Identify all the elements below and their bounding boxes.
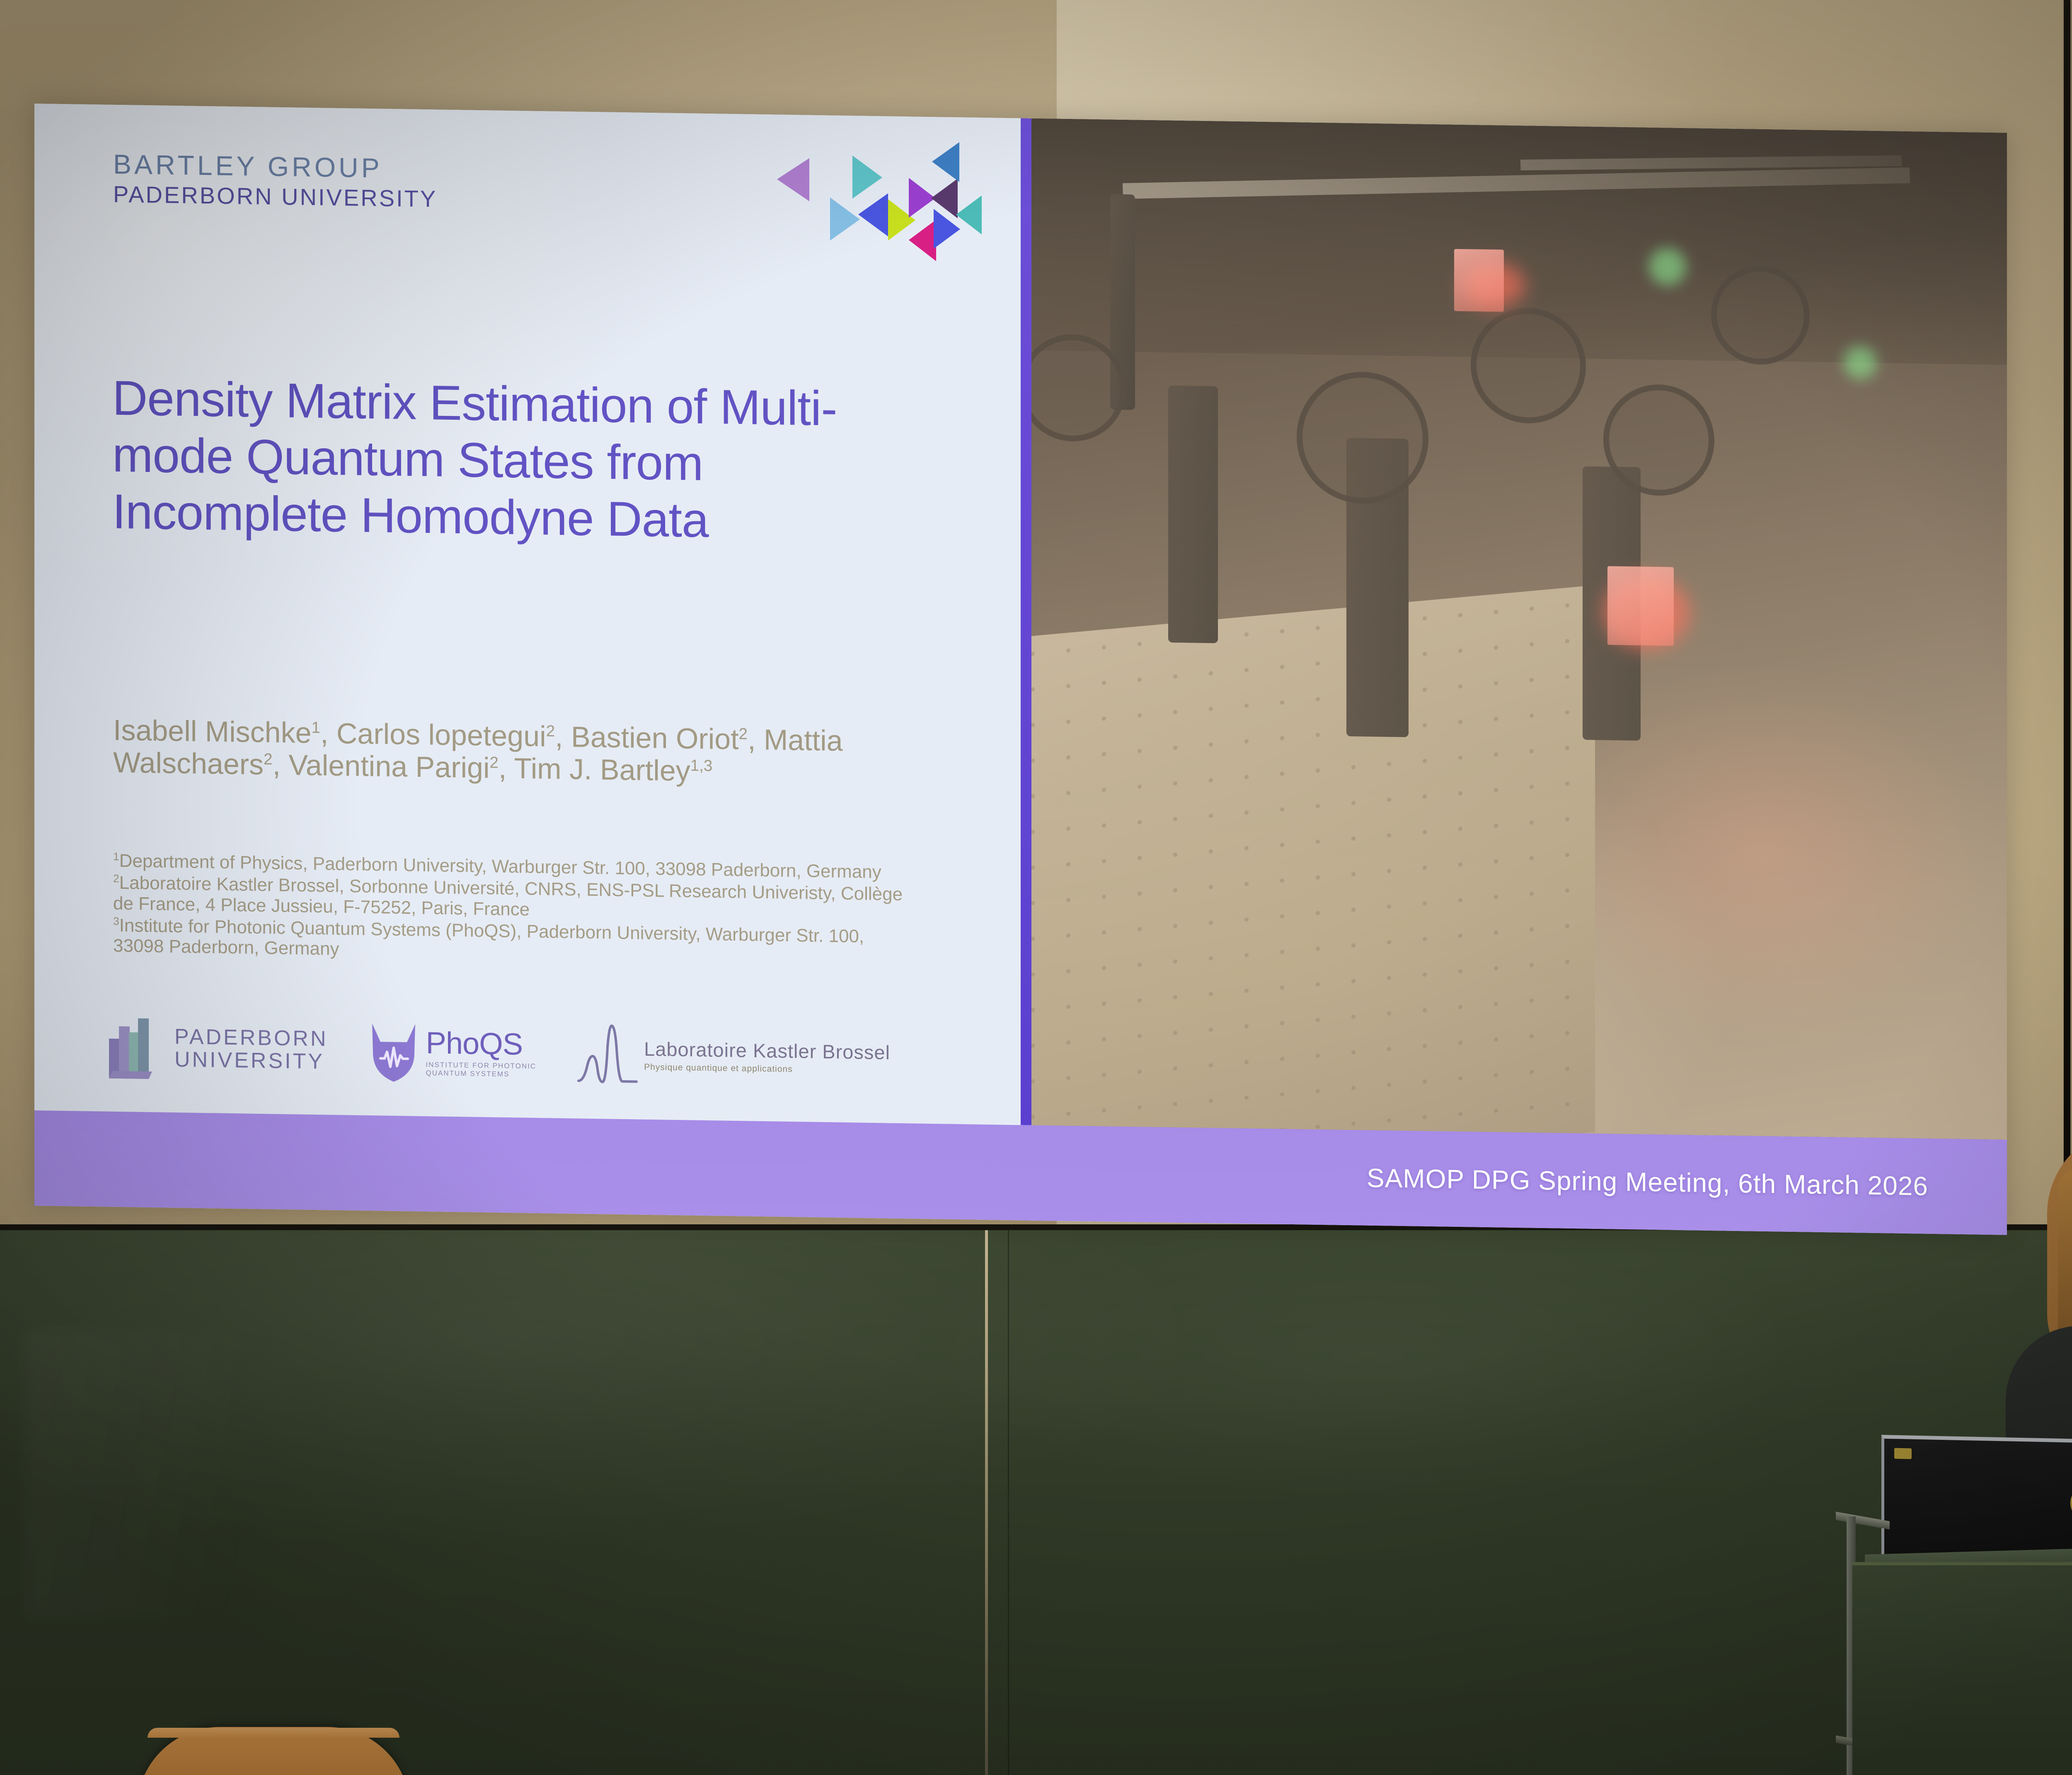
brand-line-1: BARTLEY GROUP [113, 150, 437, 183]
slide-body: BARTLEY GROUP PADERBORN UNIVERSITY Densi… [34, 104, 2007, 1140]
logo-triangle [830, 197, 860, 241]
laboratoire-kastler-brossel-logo: Laboratoire Kastler Brossel Physique qua… [576, 1023, 890, 1090]
slide-title: Density Matrix Estimation of Multi-mode … [112, 370, 858, 551]
phoqs-wordmark: PhoQS INSTITUTE FOR PHOTONIC QUANTUM SYS… [426, 1028, 537, 1078]
brand-header: BARTLEY GROUP PADERBORN UNIVERSITY [113, 150, 437, 211]
paderborn-university-wordmark: PADERBORN UNIVERSITY [174, 1025, 328, 1073]
phoqs-logo: PhoQS INSTITUTE FOR PHOTONIC QUANTUM SYS… [368, 1020, 537, 1085]
logo-triangle [858, 193, 888, 236]
chalkboard-seam-shadow [1008, 1230, 1009, 1775]
pu-line-2: UNIVERSITY [174, 1048, 328, 1073]
phoqs-word: PhoQS [426, 1028, 537, 1060]
logo-triangle [852, 155, 882, 199]
chalkboard-smudge [25, 1330, 240, 1620]
author-list: Isabell Mischke1, Carlos lopetegui2, Bas… [113, 714, 917, 791]
phoqs-sub-2: QUANTUM SYSTEMS [426, 1069, 537, 1078]
paderborn-university-logo: PADERBORN UNIVERSITY [109, 1016, 328, 1082]
logo-triangle [932, 142, 959, 182]
paderborn-book-mark-icon [109, 1016, 164, 1079]
projected-slide: BARTLEY GROUP PADERBORN UNIVERSITY Densi… [34, 104, 2007, 1235]
lkb-name: Laboratoire Kastler Brossel [644, 1039, 890, 1063]
optical-table-photo [1031, 118, 2007, 1140]
logo-triangle [956, 195, 982, 235]
pu-line-1: PADERBORN [174, 1025, 328, 1050]
lectern [1852, 1562, 2072, 1775]
partner-logo-strip: PADERBORN UNIVERSITY PhoQS INSTITUTE FOR… [109, 1006, 946, 1101]
hair-left-strand [2058, 1168, 2072, 1351]
lkb-tagline: Physique quantique et applications [644, 1063, 890, 1076]
wooden-chair-highlight [148, 1728, 399, 1738]
laptop-sticker-icon [1894, 1448, 1912, 1459]
chalkboard [0, 1224, 2072, 1775]
chalkboard-sheen [0, 1230, 2072, 1775]
paderborn-triangles-logo [777, 140, 976, 275]
ceiling-cable [2064, 0, 2070, 1189]
fox-head-icon [368, 1020, 419, 1083]
brand-line-2: PADERBORN UNIVERSITY [113, 183, 437, 211]
slide-vertical-divider [1021, 118, 1031, 1125]
logo-triangle [777, 158, 809, 201]
phoqs-sub-1: INSTITUTE FOR PHOTONIC [426, 1061, 537, 1070]
affiliation-list: 1Department of Physics, Paderborn Univer… [113, 851, 917, 970]
footer-meeting-label: SAMOP DPG Spring Meeting, 6th March 2026 [1367, 1163, 2007, 1203]
projector-washout-veil [1031, 118, 2007, 1140]
chalkboard-seam [985, 1230, 988, 1775]
wavefunction-icon [576, 1023, 638, 1086]
lecture-hall-scene: BARTLEY GROUP PADERBORN UNIVERSITY Densi… [0, 0, 2072, 1775]
lkb-wordmark: Laboratoire Kastler Brossel Physique qua… [644, 1039, 890, 1076]
slide-content-panel: BARTLEY GROUP PADERBORN UNIVERSITY Densi… [34, 104, 1021, 1125]
logo-triangle [909, 219, 936, 261]
